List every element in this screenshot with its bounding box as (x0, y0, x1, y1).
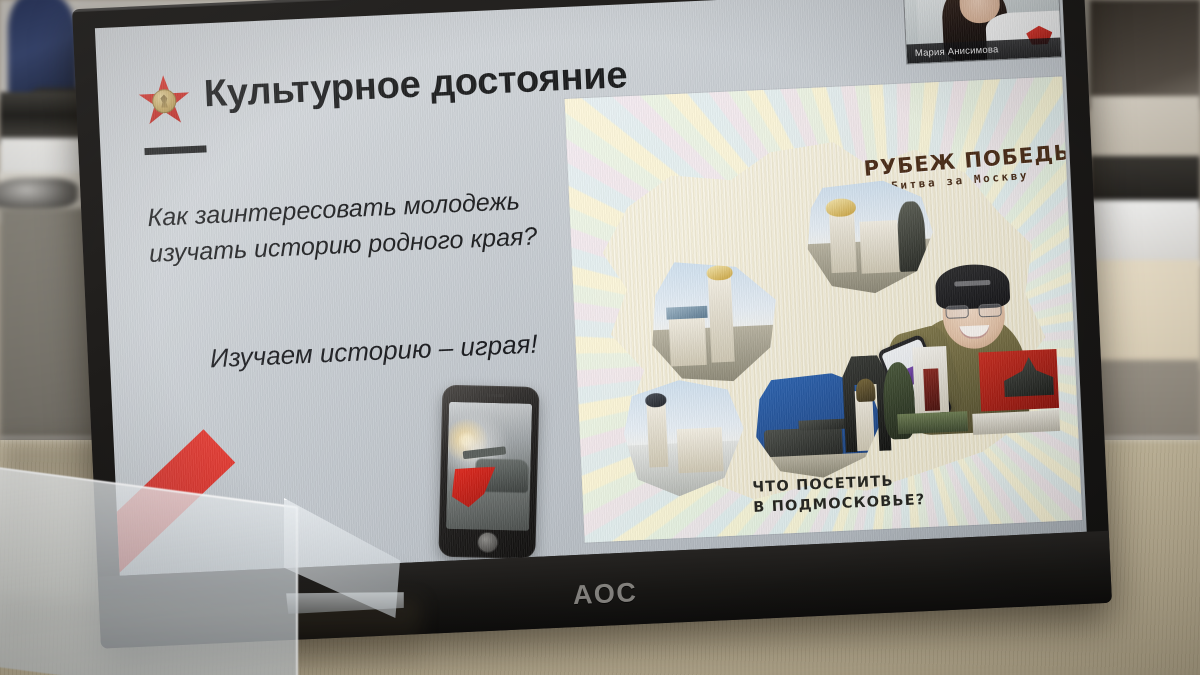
church-tower (829, 209, 857, 273)
monastery-roof (666, 305, 707, 319)
map-caption: ЧТО ПОСЕТИТЬ В ПОДМОСКОВЬЕ? (752, 471, 926, 518)
map-graphic-panel: РУБЕЖ ПОБЕДЫ Битва за Москву (565, 76, 1083, 542)
exhibit-object-left (0, 178, 78, 212)
winter-tower (646, 402, 668, 468)
phone-screen-image (446, 402, 532, 531)
red-star-medal-icon (137, 74, 191, 128)
room-right-segment-5 (1090, 260, 1200, 370)
monument-pedestal (972, 410, 1060, 435)
smartphone-battle-scene-icon (438, 385, 539, 559)
title-underline-rule (144, 145, 206, 155)
monitor-screen[interactable]: Культурное достояние Как заинтересовать … (95, 0, 1087, 576)
person-glasses (945, 303, 1002, 319)
memorial-figure (923, 368, 940, 411)
winter-tower-spire (645, 392, 667, 407)
room-right-segment-1 (1090, 0, 1200, 110)
video-participant-tile[interactable]: Мария Анисимова (904, 0, 1061, 63)
presentation-slide: Культурное достояние Как заинтересовать … (95, 0, 1087, 576)
memorial-bell (856, 378, 875, 402)
phone-speaker (478, 394, 504, 398)
room-right-segment-2 (1090, 96, 1200, 162)
room-right-segment-4 (1090, 200, 1200, 266)
monastery-wall (669, 313, 707, 367)
slide-tagline-text: Изучаем историю – играя! (209, 329, 538, 375)
winter-building (676, 427, 724, 473)
screenshot-stage: Культурное достояние Как заинтересовать … (0, 0, 1200, 675)
aoc-brand-logo: AOC (572, 577, 638, 611)
artillery-monument-photo (944, 339, 1060, 440)
participant-name-label: Мария Анисимова (907, 44, 999, 59)
phone-home-button (477, 533, 496, 552)
bell-tower (708, 275, 735, 363)
slide-question-text: Как заинтересовать молодежь изучать исто… (147, 181, 580, 273)
